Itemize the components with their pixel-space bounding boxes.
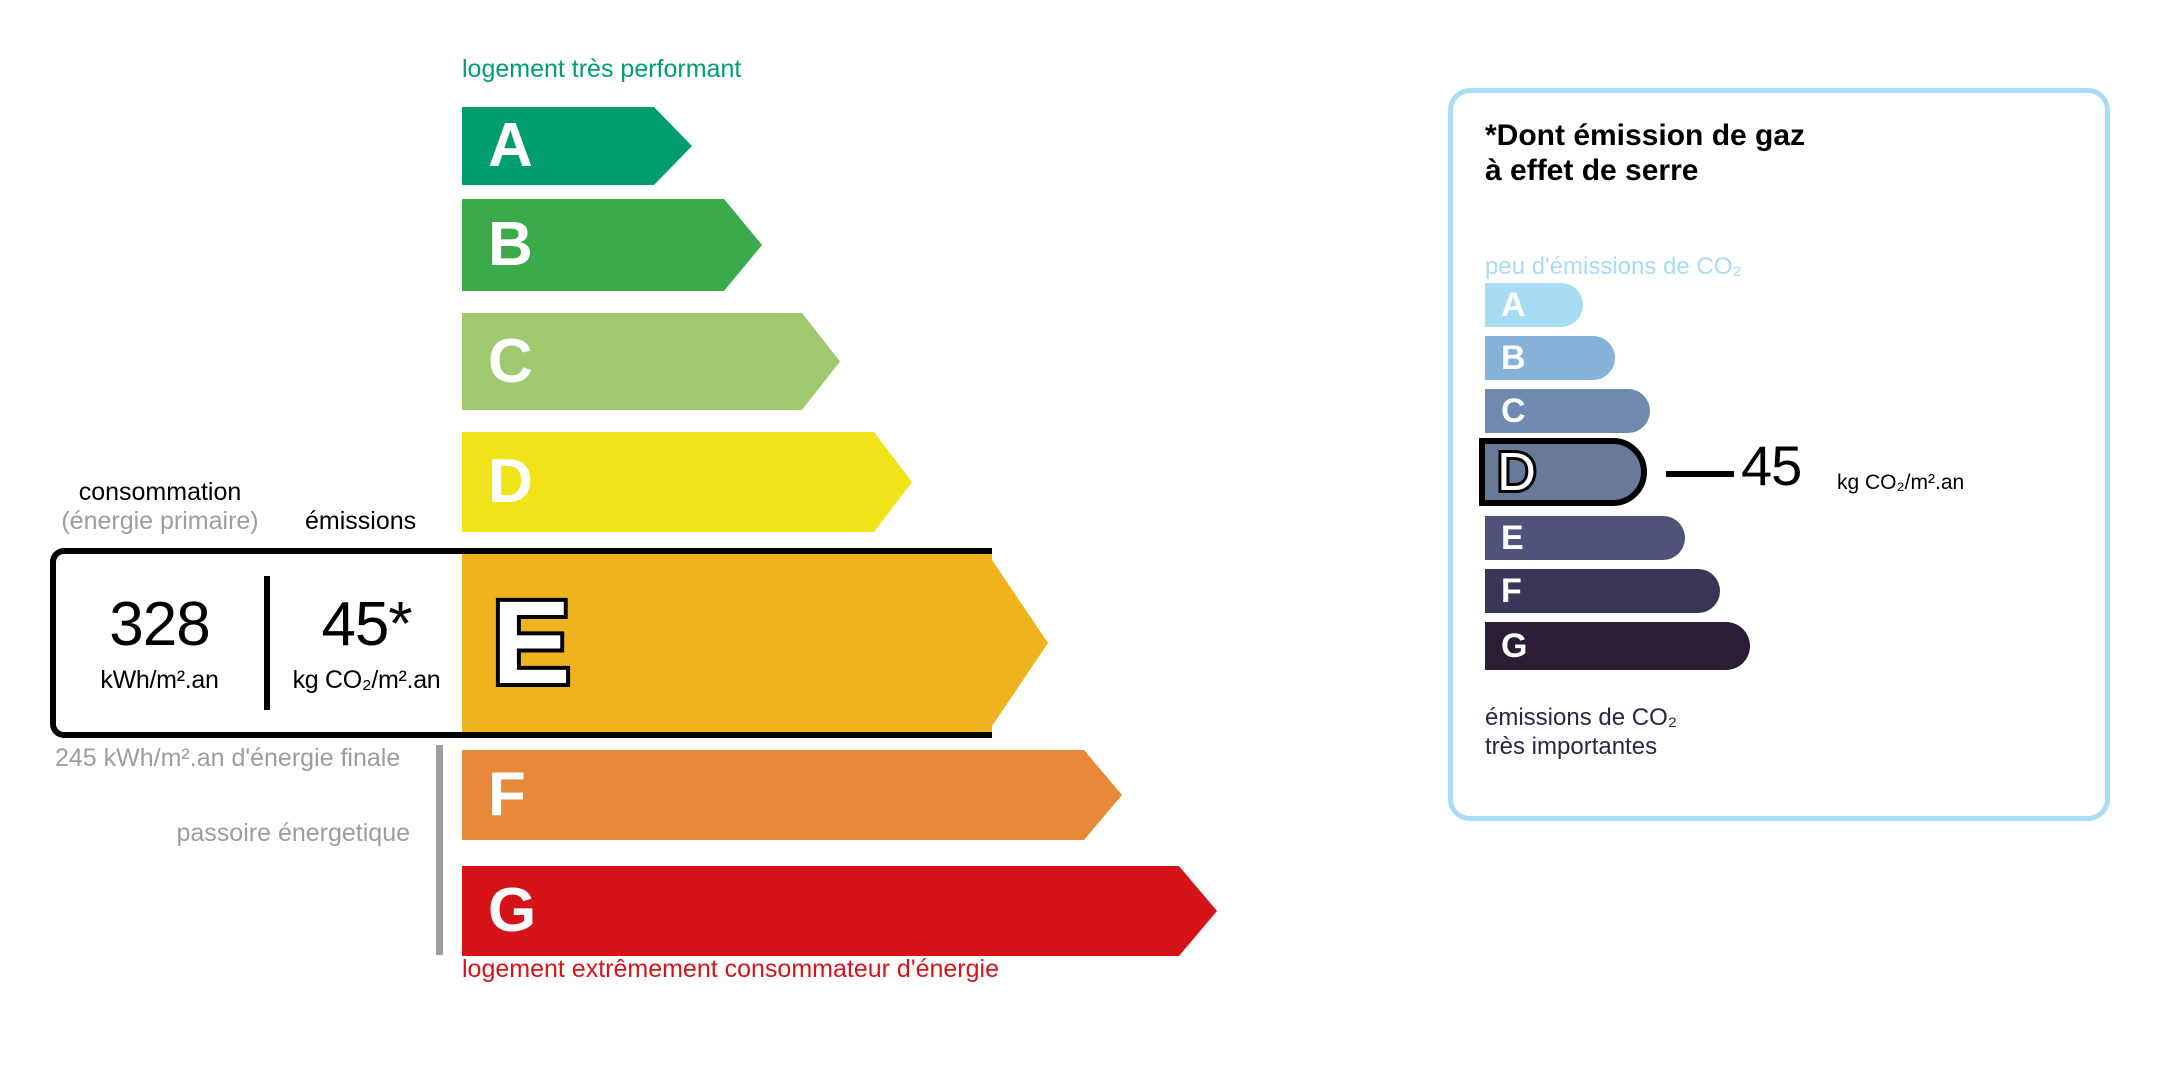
co2-caption-bottom: émissions de CO₂ très importantes xyxy=(1485,703,1677,762)
co2-bar-a: A xyxy=(1485,283,1583,327)
co2-class-letter-a: A xyxy=(1501,288,1526,322)
co2-bar-b: B xyxy=(1485,336,1615,380)
energy-class-letter-c: C xyxy=(488,331,533,393)
arrow-shape-c: C xyxy=(462,313,840,410)
arrow-shape-b: B xyxy=(462,199,762,291)
co2-emissions-panel: *Dont émission de gaz à effet de serre p… xyxy=(1448,88,2110,821)
passoire-energetique-note: passoire énergetique xyxy=(150,818,410,849)
arrow-head-c xyxy=(802,313,840,410)
co2-bar-g: G xyxy=(1485,622,1750,670)
emission-unit: kg CO₂/m².an xyxy=(263,668,470,693)
energy-class-letter-f: F xyxy=(488,764,526,826)
co2-class-letter-c: C xyxy=(1501,394,1526,428)
arrow-shape-e: E xyxy=(462,548,1060,738)
primary-energy-label: (énergie primaire) xyxy=(35,507,285,536)
co2-class-letter-f: F xyxy=(1501,574,1522,608)
energy-class-letter-a: A xyxy=(488,115,533,177)
arrow-shape-g: G xyxy=(462,866,1217,956)
arrow-head-a xyxy=(654,107,692,185)
energy-performance-diagram: logement très performant A B C D c xyxy=(0,0,1400,1079)
energy-bar-b: B xyxy=(462,199,762,291)
co2-class-letter-d: D xyxy=(1497,445,1536,499)
co2-class-letter-g: G xyxy=(1501,629,1527,663)
energy-class-letter-b: B xyxy=(488,214,533,276)
arrow-head-g xyxy=(1179,866,1217,956)
energy-class-letter-e: E xyxy=(492,584,571,702)
passoire-marker-bar xyxy=(436,745,443,955)
co2-leader-line xyxy=(1666,471,1734,477)
arrow-head-d xyxy=(874,432,912,532)
energy-bar-e-selected: 328 kWh/m².an 45* kg CO₂/m².an E xyxy=(50,548,1060,738)
final-energy-note: 245 kWh/m².an d'énergie finale xyxy=(55,743,400,774)
energy-bar-c: C xyxy=(462,313,840,410)
co2-bar-d-selected: D xyxy=(1479,438,1647,506)
arrow-body-f xyxy=(462,750,1084,840)
energy-bar-f: F xyxy=(462,750,1122,840)
consumption-value-cell: 328 kWh/m².an xyxy=(56,594,263,693)
co2-bar-c: C xyxy=(1485,389,1650,433)
co2-bar-e: E xyxy=(1485,516,1685,560)
energy-class-letter-g: G xyxy=(488,880,536,942)
energy-class-letter-d: D xyxy=(488,451,533,513)
consumption-value: 328 xyxy=(56,594,263,656)
arrow-shape-f: F xyxy=(462,750,1122,840)
arrow-head-e xyxy=(988,548,1060,738)
energy-bar-d: D xyxy=(462,432,912,532)
consumption-unit: kWh/m².an xyxy=(56,668,263,693)
arrow-head-f xyxy=(1084,750,1122,840)
co2-value-unit: kg CO₂/m².an xyxy=(1837,471,1964,495)
consumption-label: consommation xyxy=(55,478,265,507)
co2-caption-top: peu d'émissions de CO₂ xyxy=(1485,253,1742,281)
emission-value: 45* xyxy=(263,594,470,656)
arrow-shape-a: A xyxy=(462,107,692,185)
energy-caption-bottom: logement extrêmement consommateur d'éner… xyxy=(462,955,999,984)
co2-class-letter-b: B xyxy=(1501,341,1526,375)
energy-caption-top: logement très performant xyxy=(462,55,741,84)
energy-bar-a: A xyxy=(462,107,692,185)
co2-panel-title: *Dont émission de gaz à effet de serre xyxy=(1485,118,1805,189)
co2-bar-f: F xyxy=(1485,569,1720,613)
energy-value-box: 328 kWh/m².an 45* kg CO₂/m².an xyxy=(50,548,470,738)
co2-class-letter-e: E xyxy=(1501,521,1524,555)
arrow-shape-d: D xyxy=(462,432,912,532)
co2-value: 45 xyxy=(1741,438,1801,494)
arrow-body-g xyxy=(462,866,1179,956)
emissions-label: émissions xyxy=(305,507,416,536)
emission-value-cell: 45* kg CO₂/m².an xyxy=(263,594,470,693)
energy-bar-g: G xyxy=(462,866,1217,956)
arrow-head-b xyxy=(724,199,762,291)
